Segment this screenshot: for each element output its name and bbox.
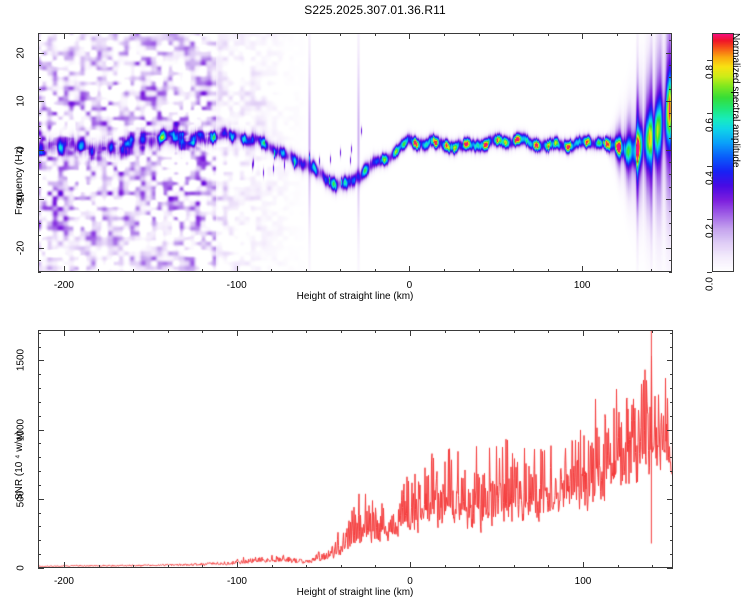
- y-tick-mark: [670, 443, 673, 444]
- x-tick-mark: [306, 33, 307, 36]
- y-tick-mark: [670, 402, 673, 403]
- x-tick-mark: [583, 330, 584, 336]
- x-tick-mark: [410, 562, 411, 568]
- y-tick-mark: [38, 53, 44, 54]
- x-tick-mark: [202, 565, 203, 568]
- x-tick-mark: [375, 269, 376, 272]
- x-tick-mark: [514, 565, 515, 568]
- x-tick-mark: [168, 330, 169, 333]
- x-tick-mark: [271, 269, 272, 272]
- y-tick-mark: [666, 248, 672, 249]
- snr-line-plot: [38, 330, 673, 568]
- colorbar-tick-label: 0.2: [705, 219, 716, 243]
- x-tick-mark: [64, 562, 65, 568]
- y-tick-mark: [669, 223, 672, 224]
- y-tick-mark: [669, 40, 672, 41]
- y-tick-mark: [666, 150, 672, 151]
- y-tick-mark: [669, 65, 672, 66]
- y-tick-mark: [38, 457, 41, 458]
- x-tick-mark: [306, 269, 307, 272]
- y-tick-mark: [38, 540, 41, 541]
- colorbar-tick-label: 0.8: [705, 60, 716, 84]
- x-tick-mark: [133, 330, 134, 333]
- x-tick-mark: [445, 330, 446, 333]
- snr-y-axis-title: SNR (10 ⁴ w/w): [14, 431, 25, 500]
- spectrogram-panel: [38, 33, 672, 272]
- x-tick-mark: [617, 269, 618, 272]
- x-tick-mark: [340, 33, 341, 36]
- x-tick-mark: [479, 565, 480, 568]
- x-tick-label: -100: [227, 280, 247, 291]
- x-tick-mark: [618, 330, 619, 333]
- x-tick-mark: [237, 330, 238, 336]
- y-tick-mark: [38, 260, 41, 261]
- y-tick-label: 10: [16, 88, 27, 114]
- x-tick-label: 0: [407, 576, 413, 587]
- y-tick-mark: [38, 101, 44, 102]
- x-tick-mark: [444, 269, 445, 272]
- x-tick-mark: [409, 266, 410, 272]
- x-tick-mark: [375, 33, 376, 36]
- x-tick-mark: [133, 33, 134, 36]
- x-tick-mark: [98, 269, 99, 272]
- colorbar-title: Normalized spectral amplitude: [730, 33, 741, 168]
- y-tick-mark: [667, 568, 673, 569]
- x-tick-mark: [513, 269, 514, 272]
- y-tick-mark: [38, 174, 41, 175]
- colorbar-tick-label: 0.0: [705, 272, 716, 296]
- y-tick-mark: [38, 65, 41, 66]
- y-tick-mark: [38, 77, 41, 78]
- y-tick-mark: [38, 360, 44, 361]
- spectrogram-x-axis-title: Height of straight line (km): [297, 291, 414, 302]
- x-tick-mark: [99, 330, 100, 333]
- y-tick-mark: [38, 554, 41, 555]
- x-tick-mark: [479, 33, 480, 36]
- x-tick-mark: [64, 266, 65, 272]
- y-tick-mark: [669, 260, 672, 261]
- snr-x-axis-title: Height of straight line (km): [297, 587, 414, 598]
- y-tick-mark: [667, 360, 673, 361]
- x-tick-mark: [548, 330, 549, 333]
- x-tick-mark: [168, 565, 169, 568]
- y-tick-mark: [38, 162, 41, 163]
- y-tick-mark: [38, 89, 41, 90]
- x-tick-label: -200: [54, 576, 74, 587]
- figure-title: S225.2025.307.01.36.R11: [0, 3, 750, 17]
- y-tick-mark: [670, 374, 673, 375]
- y-tick-mark: [670, 554, 673, 555]
- x-tick-mark: [444, 33, 445, 36]
- x-tick-mark: [651, 33, 652, 36]
- x-tick-mark: [513, 33, 514, 36]
- y-tick-label: 1500: [16, 347, 27, 373]
- y-tick-mark: [666, 199, 672, 200]
- y-tick-mark: [38, 485, 41, 486]
- x-tick-mark: [340, 269, 341, 272]
- x-tick-label: -100: [227, 576, 247, 587]
- y-tick-mark: [38, 113, 41, 114]
- x-tick-mark: [202, 33, 203, 36]
- y-tick-mark: [38, 388, 41, 389]
- y-tick-mark: [38, 199, 44, 200]
- x-tick-mark: [341, 330, 342, 333]
- x-tick-mark: [651, 269, 652, 272]
- x-tick-mark: [98, 33, 99, 36]
- y-tick-mark: [666, 53, 672, 54]
- x-tick-mark: [237, 562, 238, 568]
- x-tick-mark: [375, 565, 376, 568]
- x-tick-mark: [202, 330, 203, 333]
- y-tick-mark: [38, 402, 41, 403]
- y-tick-mark: [669, 235, 672, 236]
- y-tick-label: 20: [16, 40, 27, 66]
- x-tick-mark: [306, 330, 307, 333]
- y-tick-mark: [38, 499, 44, 500]
- y-tick-label: 0: [16, 555, 27, 581]
- y-tick-mark: [38, 235, 41, 236]
- x-tick-mark: [375, 330, 376, 333]
- figure-root: S225.2025.307.01.36.R11 -20-1001020 -200…: [0, 0, 750, 600]
- x-tick-mark: [514, 330, 515, 333]
- x-tick-label: -200: [54, 280, 74, 291]
- y-tick-mark: [669, 174, 672, 175]
- y-tick-mark: [38, 513, 41, 514]
- y-tick-mark: [669, 187, 672, 188]
- x-tick-mark: [237, 33, 238, 39]
- y-tick-mark: [38, 471, 41, 472]
- y-tick-mark: [669, 126, 672, 127]
- spectrogram-image: [38, 33, 672, 272]
- y-tick-mark: [38, 248, 44, 249]
- y-tick-mark: [669, 77, 672, 78]
- x-tick-mark: [445, 565, 446, 568]
- x-tick-label: 0: [407, 280, 413, 291]
- x-tick-mark: [548, 565, 549, 568]
- x-tick-mark: [409, 33, 410, 39]
- x-tick-mark: [272, 330, 273, 333]
- y-tick-mark: [669, 162, 672, 163]
- y-tick-mark: [670, 485, 673, 486]
- y-tick-mark: [38, 272, 41, 273]
- snr-panel: [38, 330, 673, 568]
- x-tick-mark: [133, 565, 134, 568]
- y-tick-mark: [38, 443, 41, 444]
- x-tick-label: 100: [574, 280, 591, 291]
- y-tick-mark: [669, 138, 672, 139]
- x-tick-mark: [652, 330, 653, 333]
- y-tick-mark: [38, 223, 41, 224]
- y-tick-mark: [670, 471, 673, 472]
- x-tick-mark: [99, 565, 100, 568]
- y-tick-mark: [670, 513, 673, 514]
- spectrogram-y-axis-title: Frequency (Hz): [14, 146, 25, 215]
- y-tick-mark: [38, 526, 41, 527]
- y-tick-mark: [38, 430, 44, 431]
- x-tick-mark: [548, 269, 549, 272]
- x-tick-mark: [548, 33, 549, 36]
- x-tick-mark: [168, 269, 169, 272]
- y-tick-mark: [670, 457, 673, 458]
- x-tick-mark: [64, 33, 65, 39]
- x-tick-mark: [479, 330, 480, 333]
- x-tick-mark: [582, 266, 583, 272]
- x-tick-mark: [479, 269, 480, 272]
- y-tick-mark: [670, 347, 673, 348]
- y-tick-label: -20: [16, 235, 27, 261]
- colorbar-tick-label: 0.4: [705, 166, 716, 190]
- x-tick-mark: [652, 565, 653, 568]
- x-tick-mark: [64, 330, 65, 336]
- y-tick-mark: [38, 187, 41, 188]
- y-tick-mark: [669, 211, 672, 212]
- x-tick-mark: [617, 33, 618, 36]
- x-tick-mark: [133, 269, 134, 272]
- y-tick-mark: [669, 113, 672, 114]
- y-tick-mark: [666, 101, 672, 102]
- x-tick-mark: [272, 565, 273, 568]
- x-tick-label: 100: [575, 576, 592, 587]
- y-tick-mark: [38, 40, 41, 41]
- x-tick-mark: [306, 565, 307, 568]
- y-tick-mark: [38, 126, 41, 127]
- y-tick-mark: [670, 540, 673, 541]
- x-tick-mark: [168, 33, 169, 36]
- y-tick-mark: [667, 430, 673, 431]
- y-tick-mark: [38, 416, 41, 417]
- x-tick-mark: [237, 266, 238, 272]
- y-tick-mark: [670, 388, 673, 389]
- x-tick-mark: [271, 33, 272, 36]
- x-tick-mark: [582, 33, 583, 39]
- y-tick-mark: [38, 374, 41, 375]
- y-tick-mark: [38, 347, 41, 348]
- y-tick-mark: [38, 150, 44, 151]
- x-tick-mark: [341, 565, 342, 568]
- y-tick-mark: [670, 333, 673, 334]
- x-tick-mark: [618, 565, 619, 568]
- x-tick-mark: [583, 562, 584, 568]
- y-tick-mark: [38, 333, 41, 334]
- y-tick-mark: [669, 272, 672, 273]
- y-tick-mark: [38, 138, 41, 139]
- x-tick-mark: [202, 269, 203, 272]
- colorbar-tick-label: 0.6: [705, 113, 716, 137]
- y-tick-mark: [669, 89, 672, 90]
- y-tick-mark: [670, 416, 673, 417]
- y-tick-mark: [667, 499, 673, 500]
- x-tick-mark: [410, 330, 411, 336]
- y-tick-mark: [38, 211, 41, 212]
- y-tick-mark: [38, 568, 44, 569]
- y-tick-mark: [670, 526, 673, 527]
